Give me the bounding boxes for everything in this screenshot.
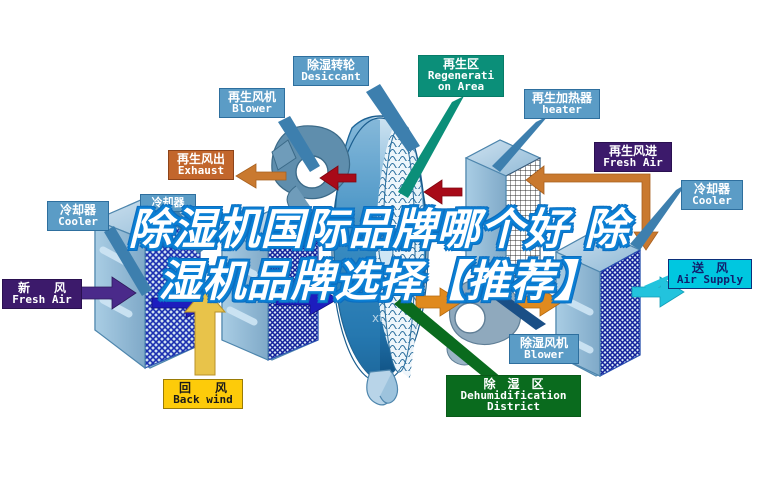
label-cooler-mid-cn: 冷却器 — [144, 197, 192, 208]
label-regen-fresh-air-en: Fresh Air — [598, 157, 668, 168]
label-cooler-right: 冷却器 Cooler — [681, 180, 743, 210]
second-cooler-unit — [222, 210, 318, 360]
label-air-supply: 送 风 Air Supply — [668, 259, 752, 289]
label-regen-exhaust: 再生风出 Exhaust — [168, 150, 234, 180]
label-fresh-air-in-en: Fresh Air — [6, 294, 78, 305]
label-cooler-left: 冷却器 Cooler — [47, 201, 109, 231]
label-cooler-right-en: Cooler — [685, 195, 739, 206]
label-regeneration-area-en-2: on Area — [422, 81, 500, 92]
label-regen-exhaust-en: Exhaust — [172, 165, 230, 176]
label-regeneration-area: 再生区 Regenerati on Area — [418, 55, 504, 97]
label-desiccant-rotor: 除湿转轮 Desiccant — [293, 56, 369, 86]
label-regen-heater-en: heater — [528, 104, 596, 115]
label-cooler-mid: 冷却器 — [140, 194, 196, 212]
label-dehumidification-district: 除 湿 区 Dehumidification District — [446, 375, 581, 417]
regen-hot-arrow-right — [424, 180, 462, 204]
schematic-artwork: xt — [0, 0, 757, 488]
label-regen-blower-en: Blower — [223, 103, 281, 114]
label-regen-blower: 再生风机 Blower — [219, 88, 285, 118]
label-fresh-air-in: 新 风 Fresh Air — [2, 279, 82, 309]
dehumidifier-diagram-image: xt — [0, 0, 757, 488]
label-regen-fresh-air: 再生风进 Fresh Air — [594, 142, 672, 172]
svg-text:xt: xt — [372, 311, 384, 325]
label-cooler-left-en: Cooler — [51, 216, 105, 227]
label-dehumidification-district-en-2: District — [450, 401, 577, 412]
label-dehumidify-blower: 除湿风机 Blower — [509, 334, 579, 364]
label-back-wind-en: Back wind — [167, 394, 239, 405]
label-back-wind: 回 风 Back wind — [163, 379, 243, 409]
label-air-supply-en: Air Supply — [672, 274, 748, 285]
label-dehumidify-blower-en: Blower — [513, 349, 575, 360]
label-regen-heater: 再生加热器 heater — [524, 89, 600, 119]
label-desiccant-rotor-en: Desiccant — [297, 71, 365, 82]
